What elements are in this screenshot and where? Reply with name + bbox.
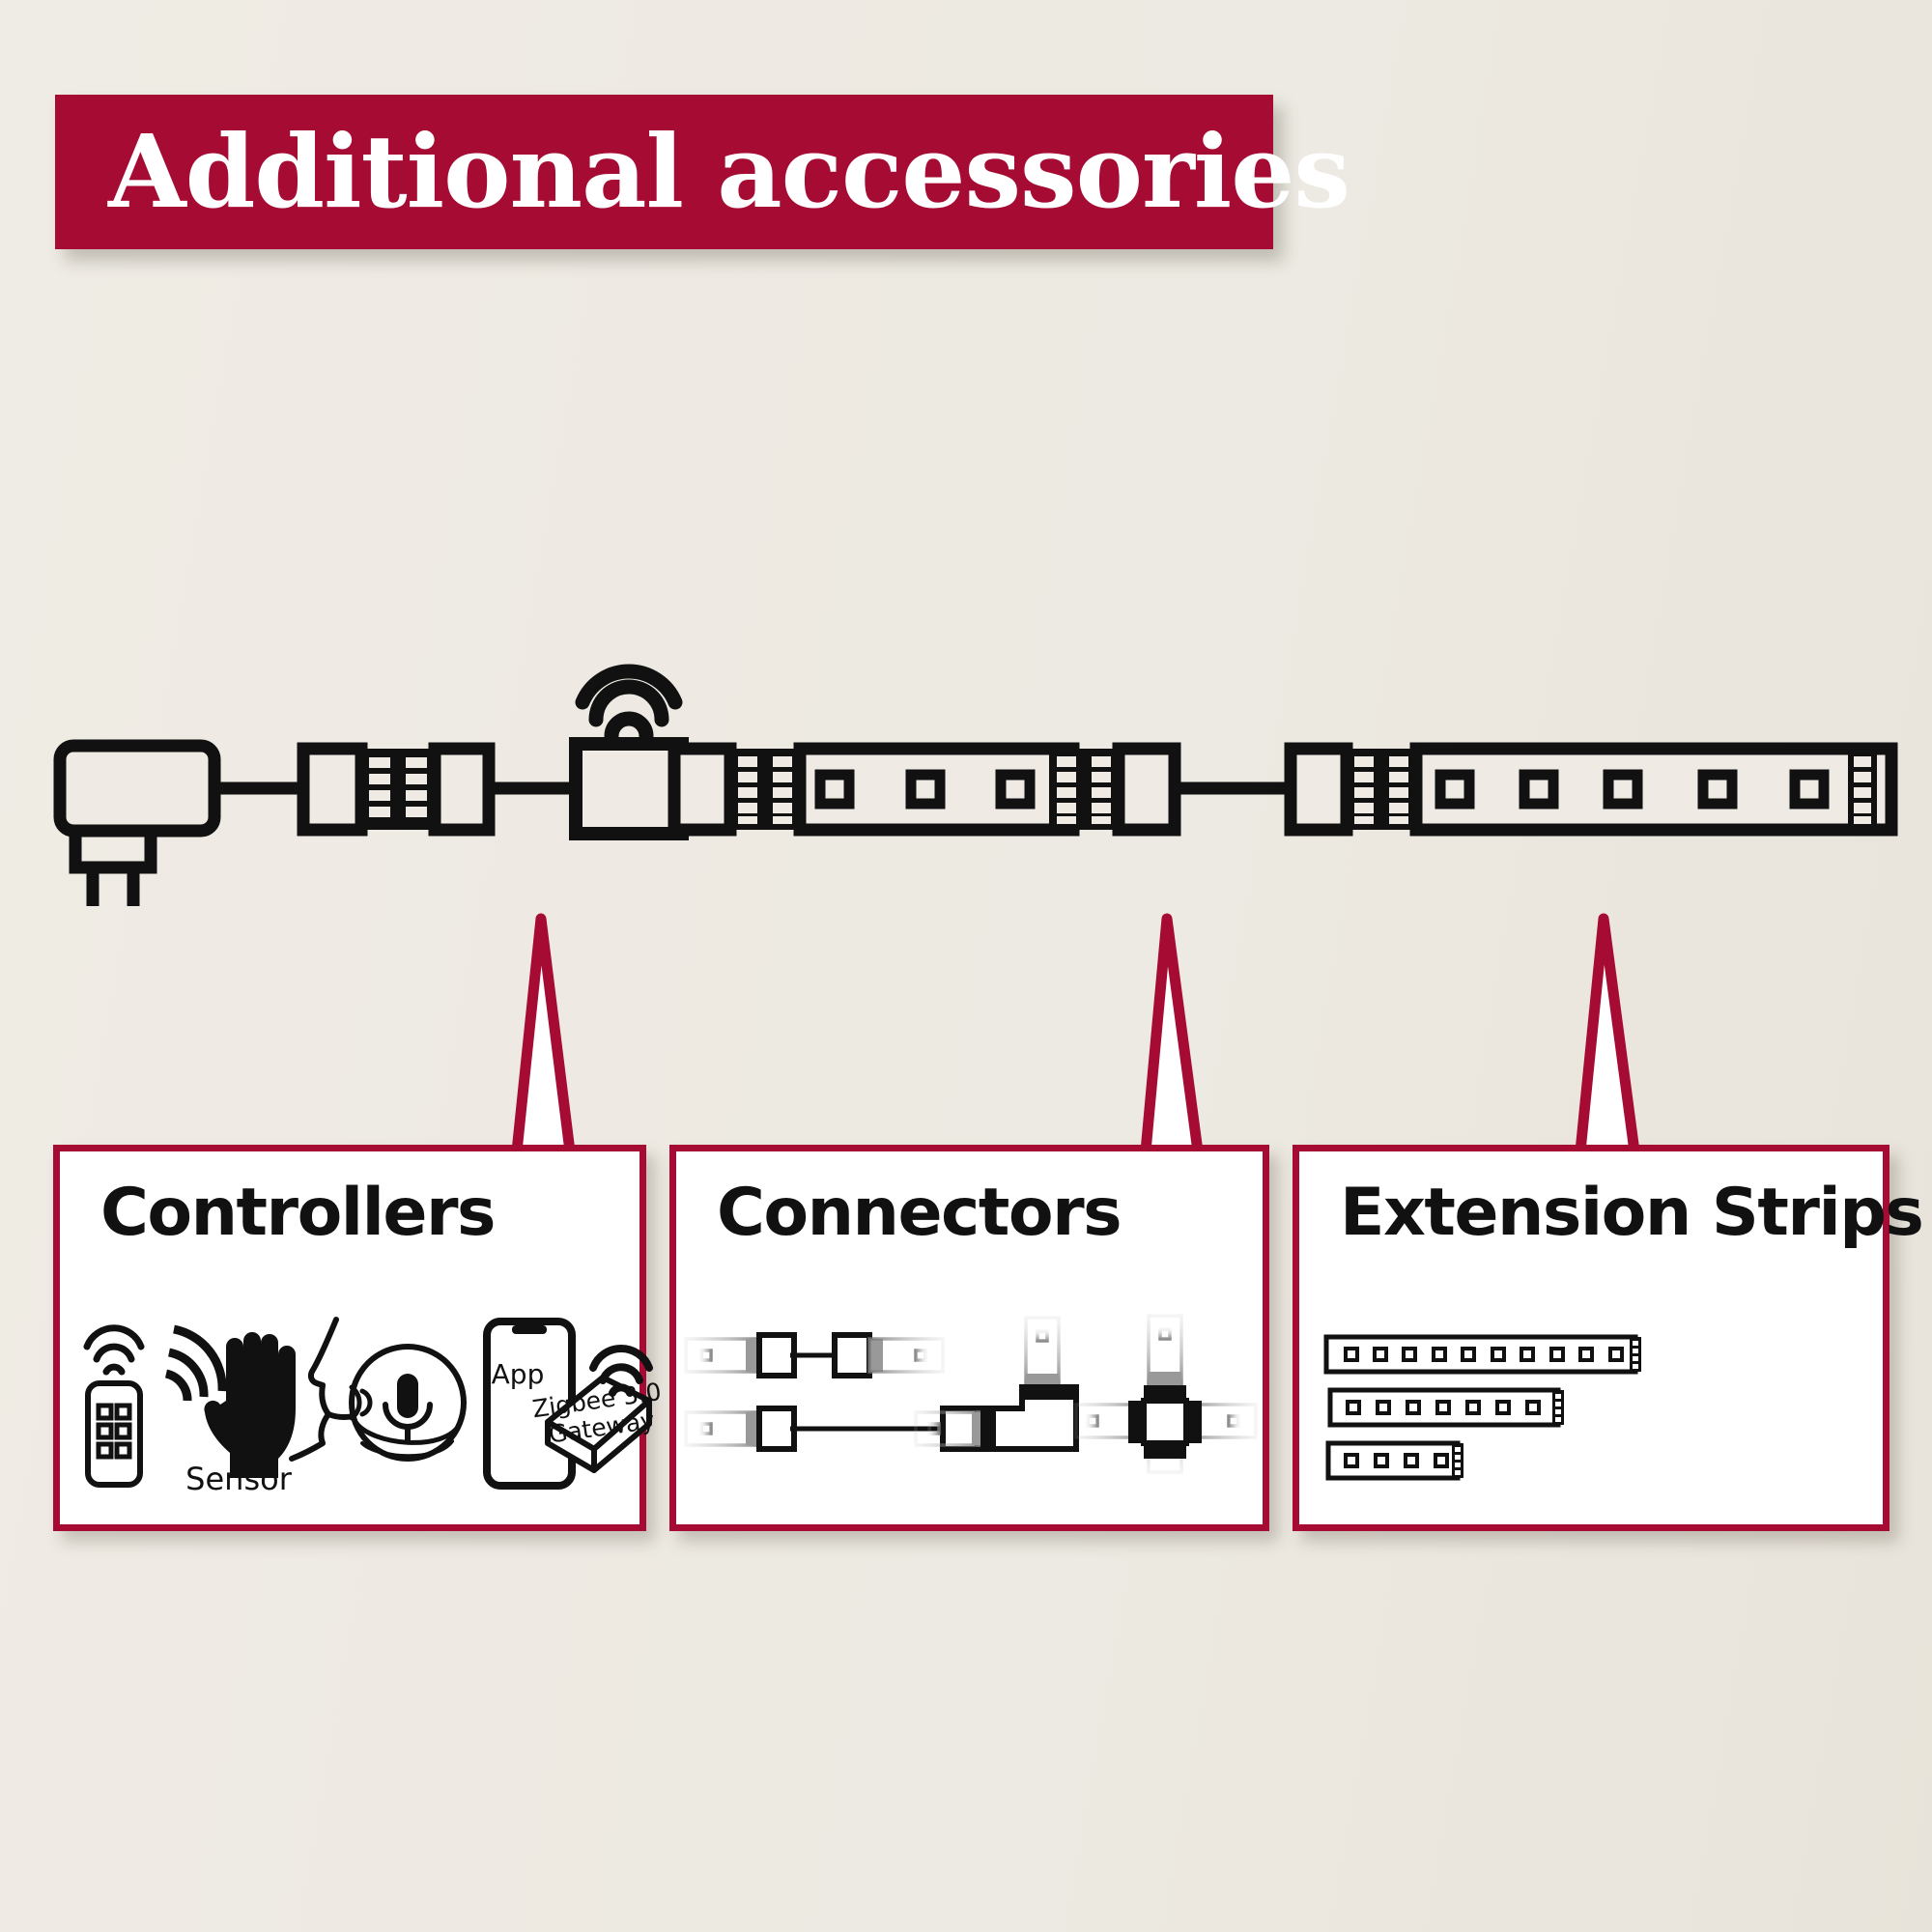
- card-extension-title: Extension Strips: [1340, 1175, 1922, 1251]
- card-connectors-icons: [676, 1308, 1263, 1492]
- page-background: Additional accessories: [0, 0, 1932, 1932]
- short-cable-connector-icon: [686, 1335, 943, 1376]
- strip-connector-4-icon: [1291, 749, 1416, 830]
- card-connectors[interactable]: Connectors: [669, 1145, 1269, 1531]
- card-extension-strips[interactable]: Extension Strips: [1293, 1145, 1889, 1531]
- hand-sensor-icon: [166, 1329, 296, 1478]
- sensor-label: Sensor: [185, 1461, 293, 1497]
- app-label: App: [492, 1358, 545, 1390]
- callout-spike-connectors: [1146, 919, 1198, 1151]
- led-system-chain-diagram: [0, 0, 1932, 1932]
- card-controllers-icons: Sensor: [60, 1308, 639, 1492]
- callout-spike-controllers: [517, 919, 570, 1151]
- cross-connector-icon: [1076, 1316, 1256, 1472]
- led-strip-1-icon: [800, 749, 1073, 830]
- power-supply-icon: [60, 746, 303, 906]
- controller-box-icon: [576, 744, 773, 834]
- page-title: Additional accessories: [55, 122, 1350, 222]
- strip-connector-3-icon: [1049, 749, 1291, 830]
- strip-connector-2-icon: [674, 749, 800, 830]
- voice-assistant-icon: [292, 1320, 464, 1459]
- extension-strip-short-icon: [1328, 1443, 1463, 1478]
- callout-spike-extension: [1580, 919, 1634, 1151]
- title-banner: Additional accessories: [55, 95, 1273, 249]
- strip-connector-1-icon: [303, 749, 576, 830]
- card-controllers-title: Controllers: [100, 1175, 495, 1251]
- card-controllers[interactable]: Controllers: [53, 1145, 646, 1531]
- wifi-waves-icon: [582, 671, 675, 736]
- card-extension-icons: [1299, 1308, 1883, 1492]
- remote-control-icon: [87, 1328, 141, 1485]
- extension-strip-long-icon: [1326, 1337, 1641, 1372]
- extension-strip-medium-icon: [1330, 1390, 1564, 1425]
- card-connectors-title: Connectors: [717, 1175, 1121, 1251]
- led-strip-2-icon: [1416, 749, 1891, 830]
